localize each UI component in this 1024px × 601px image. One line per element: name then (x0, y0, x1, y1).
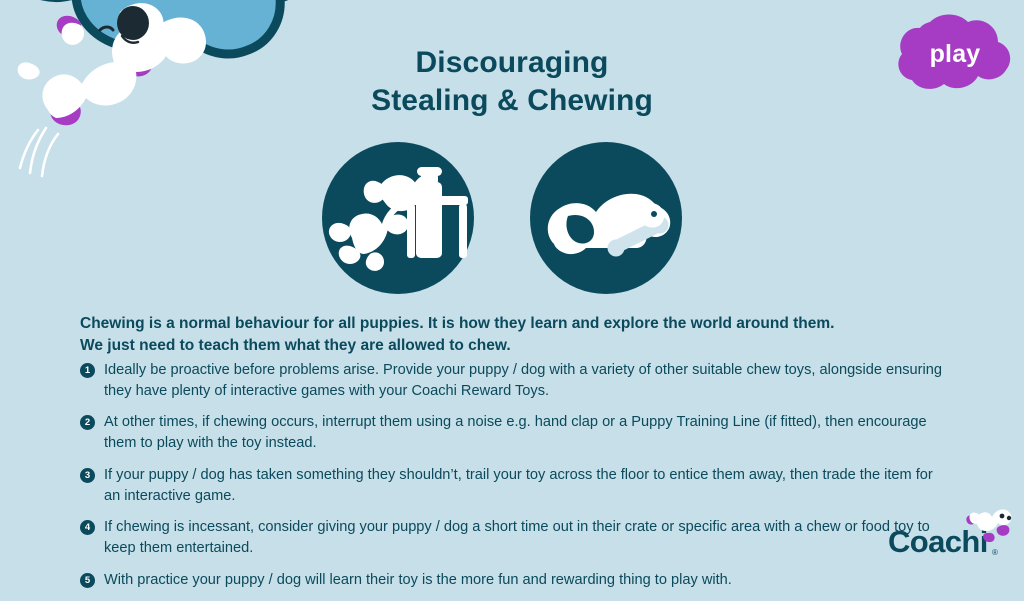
list-item: 3 If your puppy / dog has taken somethin… (80, 465, 948, 506)
cloud-dog-svg (0, 0, 330, 188)
list-item: 2 At other times, if chewing occurs, int… (80, 412, 948, 453)
page-title-line2: Stealing & Chewing (312, 82, 712, 120)
cloud-dog-illustration (0, 0, 330, 188)
list-item-number: 5 (80, 573, 95, 588)
coachi-trademark: ® (992, 548, 998, 557)
dog-chewing-toy-icon (530, 142, 682, 294)
tips-list: 1 Ideally be proactive before problems a… (80, 360, 948, 601)
list-item-number: 2 (80, 415, 95, 430)
list-item-text: If chewing is incessant, consider giving… (104, 517, 948, 558)
list-item-number: 4 (80, 520, 95, 535)
list-item-text: If your puppy / dog has taken something … (104, 465, 948, 506)
list-item-text: Ideally be proactive before problems ari… (104, 360, 948, 401)
coachi-logo: Coachi ® (888, 512, 1016, 560)
list-item: 5 With practice your puppy / dog will le… (80, 570, 948, 591)
list-item-text: At other times, if chewing occurs, inter… (104, 412, 948, 453)
coachi-dog-icon (964, 508, 1014, 542)
play-badge: play (896, 12, 1014, 94)
poster-canvas: play Discouraging Stealing & Chewing (0, 0, 1024, 577)
dog-chewing-toy-svg (530, 142, 682, 294)
lead-line2: We just need to teach them what they are… (80, 335, 940, 357)
page-title: Discouraging Stealing & Chewing (312, 44, 712, 121)
list-item-number: 3 (80, 468, 95, 483)
page-title-line1: Discouraging (312, 44, 712, 82)
lead-line1: Chewing is a normal behaviour for all pu… (80, 313, 940, 335)
dog-jumping-at-table-svg (322, 142, 474, 294)
list-item: 1 Ideally be proactive before problems a… (80, 360, 948, 401)
list-item: 4 If chewing is incessant, consider givi… (80, 517, 948, 558)
lead-paragraph: Chewing is a normal behaviour for all pu… (80, 313, 940, 357)
dog-jumping-at-table-icon (322, 142, 474, 294)
list-item-text: With practice your puppy / dog will lear… (104, 570, 948, 591)
icon-circle-group (322, 142, 702, 294)
list-item-number: 1 (80, 363, 95, 378)
play-badge-label: play (896, 12, 1014, 94)
